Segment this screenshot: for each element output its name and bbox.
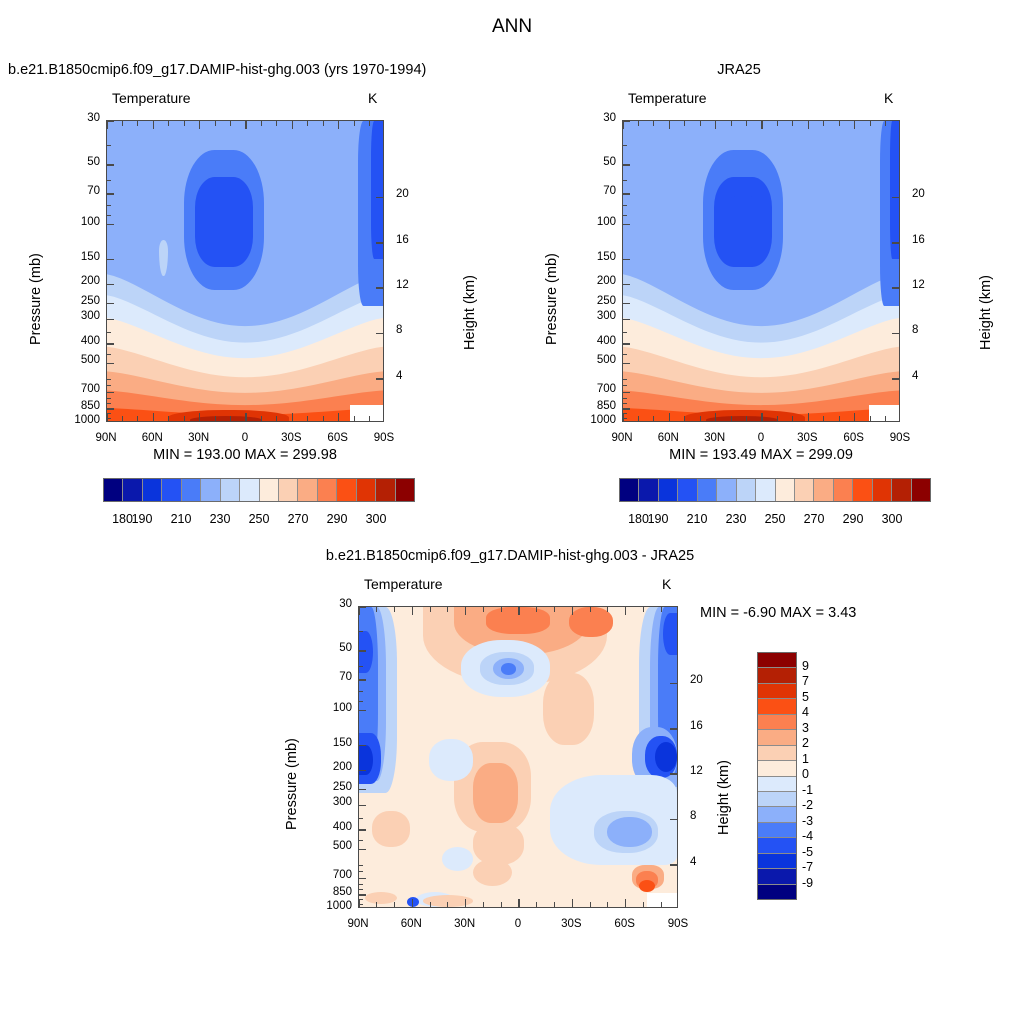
y-tick-mark xyxy=(107,224,114,226)
colorbar-cell xyxy=(873,479,892,501)
y-tick-label: 200 xyxy=(318,761,352,773)
y-tick-mark xyxy=(107,193,114,195)
x-tick-label: 30N xyxy=(177,432,221,444)
y-tick-mark xyxy=(359,770,366,772)
y-minor-tick xyxy=(623,215,627,216)
x-minor-tick-bottom xyxy=(122,416,123,421)
x-minor-tick-top xyxy=(483,607,484,612)
y-tick-mark xyxy=(107,284,114,286)
y-tick-mark xyxy=(107,120,114,122)
contour-polar-cold xyxy=(371,121,383,259)
y-minor-tick xyxy=(623,354,627,355)
x-minor-tick-bottom xyxy=(276,416,277,421)
x-minor-tick-bottom xyxy=(483,902,484,907)
colorbar-cell xyxy=(758,715,796,730)
colorbar-difference xyxy=(757,652,797,900)
variable-label-top-left: Temperature xyxy=(112,90,191,106)
y-tick-mark xyxy=(623,392,630,394)
y2-tick-label: 20 xyxy=(912,188,925,200)
x-minor-tick-bottom xyxy=(643,902,644,907)
y-minor-tick xyxy=(107,215,111,216)
y-tick-label: 30 xyxy=(582,112,616,124)
y-tick-label: 1000 xyxy=(582,414,616,426)
unit-label-bottom: K xyxy=(662,576,671,592)
colorbar-tick-label: 300 xyxy=(352,512,400,526)
colorbar-tick-label: 7 xyxy=(802,674,809,688)
x-minor-tick-bottom xyxy=(653,416,654,421)
colorbar-cell xyxy=(143,479,162,501)
y-minor-tick xyxy=(623,332,627,333)
x-minor-tick-bottom xyxy=(215,416,216,421)
y2-tick-mark xyxy=(670,864,677,866)
colorbar-cell xyxy=(758,823,796,838)
y-tick-mark xyxy=(623,408,630,410)
y-tick-mark xyxy=(359,894,366,896)
x-minor-tick-top xyxy=(122,121,123,126)
x-minor-tick-top xyxy=(653,121,654,126)
colorbar-cell xyxy=(396,479,414,501)
colorbar-cell xyxy=(814,479,833,501)
y-tick-label: 250 xyxy=(66,295,100,307)
y2-tick-label: 12 xyxy=(690,765,703,777)
y-tick-label: 150 xyxy=(318,737,352,749)
y-tick-label: 70 xyxy=(318,671,352,683)
x-tick-label: 60S xyxy=(832,432,876,444)
y-minor-tick xyxy=(623,403,627,404)
y-minor-tick xyxy=(359,789,363,790)
minmax-top-left: MIN = 193.00 MAX = 299.98 xyxy=(106,447,384,463)
y2-tick-mark xyxy=(670,683,677,685)
colorbar-cell xyxy=(221,479,240,501)
y-tick-label: 250 xyxy=(582,295,616,307)
x-tick-mark-bottom xyxy=(199,413,201,421)
x-tick-label: 0 xyxy=(739,432,783,444)
colorbar-cell xyxy=(678,479,697,501)
y-minor-tick xyxy=(623,205,627,206)
y2-tick-label: 12 xyxy=(396,279,409,291)
y2-axis-label-top-left: Height (km) xyxy=(462,275,478,350)
contour-polar-cold xyxy=(890,121,899,259)
contour-core-cold xyxy=(195,177,253,266)
y-minor-tick xyxy=(359,818,363,819)
x-tick-label: 60S xyxy=(603,918,647,930)
y-tick-mark xyxy=(107,408,114,410)
contour-band xyxy=(607,817,652,847)
y-minor-tick xyxy=(623,145,627,146)
y2-tick-label: 20 xyxy=(396,188,409,200)
y2-tick-label: 8 xyxy=(690,810,696,822)
x-minor-tick-bottom xyxy=(839,416,840,421)
colorbar-tick-label: -3 xyxy=(802,814,813,828)
x-minor-tick-top xyxy=(823,121,824,126)
x-tick-mark-bottom xyxy=(412,899,414,907)
contour-band xyxy=(639,880,655,892)
y2-axis-label-bottom: Height (km) xyxy=(716,760,732,835)
x-minor-tick-bottom xyxy=(638,416,639,421)
x-minor-tick-bottom xyxy=(885,416,886,421)
colorbar-cell xyxy=(834,479,853,501)
colorbar-cell xyxy=(620,479,639,501)
y-tick-mark xyxy=(107,343,114,345)
contour-missing-data xyxy=(647,893,677,907)
y-tick-mark xyxy=(107,319,114,321)
colorbar-temperature-right xyxy=(619,478,931,502)
colorbar-cell xyxy=(279,479,298,501)
colorbar-cell xyxy=(758,838,796,853)
colorbar-cell xyxy=(260,479,279,501)
y-tick-label: 850 xyxy=(582,400,616,412)
y-minor-tick xyxy=(359,840,363,841)
x-minor-tick-top xyxy=(661,607,662,612)
y-axis-label-top-right: Pressure (mb) xyxy=(544,253,560,345)
y-tick-mark xyxy=(359,745,366,747)
y-minor-tick xyxy=(359,631,363,632)
x-minor-tick-top xyxy=(885,121,886,126)
colorbar-tick-label: 5 xyxy=(802,690,809,704)
colorbar-cell xyxy=(758,869,796,884)
y-tick-label: 400 xyxy=(318,821,352,833)
x-minor-tick-top xyxy=(643,607,644,612)
y-tick-label: 850 xyxy=(66,400,100,412)
x-tick-label: 90N xyxy=(600,432,644,444)
y2-tick-label: 20 xyxy=(690,674,703,686)
x-tick-label: 60N xyxy=(646,432,690,444)
colorbar-cell xyxy=(639,479,658,501)
y-tick-label: 50 xyxy=(66,156,100,168)
x-minor-tick-top xyxy=(354,121,355,126)
x-minor-tick-top xyxy=(839,121,840,126)
x-tick-mark-bottom xyxy=(153,413,155,421)
x-tick-mark-bottom xyxy=(465,899,467,907)
y2-axis-label-top-right: Height (km) xyxy=(978,275,994,350)
variable-label-top-right: Temperature xyxy=(628,90,707,106)
y-tick-mark xyxy=(359,679,366,681)
x-minor-tick-top xyxy=(501,607,502,612)
y-tick-label: 30 xyxy=(318,598,352,610)
x-tick-mark-bottom xyxy=(808,413,810,421)
x-tick-mark-top xyxy=(669,121,671,129)
colorbar-cell xyxy=(758,761,796,776)
y-tick-mark xyxy=(623,164,630,166)
x-minor-tick-bottom xyxy=(554,902,555,907)
y-minor-tick xyxy=(107,145,111,146)
colorbar-tick-label: -2 xyxy=(802,798,813,812)
figure-suptitle: ANN xyxy=(0,16,1024,38)
y-tick-label: 200 xyxy=(582,275,616,287)
y-minor-tick xyxy=(107,398,111,399)
x-tick-mark-top xyxy=(518,607,520,615)
contour-field xyxy=(623,121,899,421)
y-tick-label: 700 xyxy=(318,869,352,881)
colorbar-tick-label: 9 xyxy=(802,659,809,673)
y-tick-mark xyxy=(623,193,630,195)
y-minor-tick xyxy=(359,701,363,702)
x-tick-mark-bottom xyxy=(106,413,108,421)
y-minor-tick xyxy=(107,332,111,333)
colorbar-cell xyxy=(758,854,796,869)
y-tick-label: 400 xyxy=(582,335,616,347)
contour-band xyxy=(706,416,778,421)
colorbar-cell xyxy=(357,479,376,501)
x-tick-label: 90N xyxy=(84,432,128,444)
y-tick-label: 200 xyxy=(66,275,100,287)
colorbar-cell xyxy=(123,479,142,501)
colorbar-cell xyxy=(240,479,259,501)
y-tick-mark xyxy=(107,363,114,365)
x-minor-tick-bottom xyxy=(394,902,395,907)
variable-label-bottom: Temperature xyxy=(364,576,443,592)
colorbar-tick-label: 0 xyxy=(802,767,809,781)
y2-tick-mark xyxy=(892,333,899,335)
x-tick-mark-bottom xyxy=(292,413,294,421)
y-tick-mark xyxy=(623,363,630,365)
x-minor-tick-top xyxy=(376,607,377,612)
y-tick-label: 500 xyxy=(318,840,352,852)
colorbar-tick-label: -9 xyxy=(802,876,813,890)
x-tick-label: 90S xyxy=(878,432,922,444)
colorbar-cell xyxy=(698,479,717,501)
x-tick-mark-bottom xyxy=(245,413,247,421)
y-tick-mark xyxy=(359,650,366,652)
x-tick-mark-top xyxy=(358,607,360,615)
y2-tick-mark xyxy=(376,242,383,244)
contour-band xyxy=(429,739,474,781)
x-tick-mark-bottom xyxy=(669,413,671,421)
y-tick-label: 300 xyxy=(66,310,100,322)
y2-tick-mark xyxy=(376,333,383,335)
colorbar-cell xyxy=(853,479,872,501)
contour-missing-data xyxy=(350,405,383,421)
y-tick-label: 500 xyxy=(66,354,100,366)
colorbar-cell xyxy=(758,699,796,714)
x-minor-tick-bottom xyxy=(323,416,324,421)
x-tick-label: 30S xyxy=(785,432,829,444)
x-minor-tick-bottom xyxy=(661,902,662,907)
y2-tick-label: 8 xyxy=(396,324,402,336)
y-tick-label: 500 xyxy=(582,354,616,366)
x-tick-mark-top xyxy=(715,121,717,129)
y2-tick-label: 4 xyxy=(396,370,402,382)
x-minor-tick-top xyxy=(870,121,871,126)
x-minor-tick-bottom xyxy=(792,416,793,421)
y-minor-tick xyxy=(623,379,627,380)
contour-band xyxy=(473,763,518,823)
colorbar-tick-label: 300 xyxy=(868,512,916,526)
x-minor-tick-bottom xyxy=(870,416,871,421)
colorbar-cell xyxy=(756,479,775,501)
x-tick-label: 0 xyxy=(223,432,267,444)
x-tick-mark-top xyxy=(338,121,340,129)
x-minor-tick-top xyxy=(731,121,732,126)
x-minor-tick-bottom xyxy=(230,416,231,421)
y-minor-tick xyxy=(359,871,363,872)
x-minor-tick-bottom xyxy=(307,416,308,421)
x-minor-tick-top xyxy=(307,121,308,126)
y2-tick-label: 8 xyxy=(912,324,918,336)
contour-field xyxy=(107,121,383,421)
x-tick-label: 60N xyxy=(389,918,433,930)
x-tick-mark-bottom xyxy=(518,899,520,907)
minmax-top-right: MIN = 193.49 MAX = 299.09 xyxy=(622,447,900,463)
y-tick-mark xyxy=(359,829,366,831)
x-tick-mark-top xyxy=(465,607,467,615)
y-tick-label: 300 xyxy=(582,310,616,322)
y2-tick-mark xyxy=(376,378,383,380)
colorbar-cell xyxy=(776,479,795,501)
x-tick-label: 30S xyxy=(549,918,593,930)
colorbar-cell xyxy=(795,479,814,501)
colorbar-cell xyxy=(182,479,201,501)
x-tick-mark-top xyxy=(245,121,247,129)
y-tick-label: 250 xyxy=(318,781,352,793)
y-minor-tick xyxy=(359,865,363,866)
y-tick-mark xyxy=(107,259,114,261)
y-minor-tick xyxy=(359,666,363,667)
x-minor-tick-top xyxy=(746,121,747,126)
x-tick-mark-top xyxy=(808,121,810,129)
x-minor-tick-bottom xyxy=(447,902,448,907)
colorbar-cell xyxy=(912,479,930,501)
x-minor-tick-top xyxy=(184,121,185,126)
colorbar-tick-label: -4 xyxy=(802,829,813,843)
y-tick-mark xyxy=(359,849,366,851)
colorbar-tick-label: 3 xyxy=(802,721,809,735)
y-tick-mark xyxy=(623,259,630,261)
y2-tick-mark xyxy=(376,197,383,199)
x-minor-tick-bottom xyxy=(168,416,169,421)
x-minor-tick-top xyxy=(276,121,277,126)
x-tick-mark-top xyxy=(292,121,294,129)
x-minor-tick-top xyxy=(394,607,395,612)
y-tick-mark xyxy=(107,392,114,394)
x-minor-tick-bottom xyxy=(376,902,377,907)
x-tick-mark-bottom xyxy=(358,899,360,907)
colorbar-cell xyxy=(892,479,911,501)
x-tick-label: 30N xyxy=(443,918,487,930)
x-tick-mark-bottom xyxy=(622,413,624,421)
x-minor-tick-top xyxy=(536,607,537,612)
x-minor-tick-top xyxy=(323,121,324,126)
x-minor-tick-top xyxy=(137,121,138,126)
colorbar-cell xyxy=(737,479,756,501)
y-minor-tick xyxy=(107,354,111,355)
contour-core-cold xyxy=(723,196,763,248)
x-minor-tick-top xyxy=(792,121,793,126)
y-minor-tick xyxy=(107,180,111,181)
y2-tick-mark xyxy=(670,773,677,775)
y2-tick-label: 12 xyxy=(912,279,925,291)
colorbar-cell xyxy=(758,746,796,761)
x-tick-label: 60N xyxy=(130,432,174,444)
colorbar-cell xyxy=(717,479,736,501)
x-minor-tick-top xyxy=(700,121,701,126)
x-tick-mark-top xyxy=(199,121,201,129)
x-minor-tick-top xyxy=(777,121,778,126)
x-tick-label: 90S xyxy=(656,918,700,930)
contour-missing-data xyxy=(869,405,899,421)
colorbar-cell xyxy=(758,730,796,745)
colorbar-cell xyxy=(162,479,181,501)
x-tick-mark-top xyxy=(572,607,574,615)
y-tick-mark xyxy=(359,710,366,712)
y-tick-label: 400 xyxy=(66,335,100,347)
y2-tick-label: 16 xyxy=(912,234,925,246)
y-tick-mark xyxy=(107,164,114,166)
y2-tick-label: 16 xyxy=(396,234,409,246)
x-minor-tick-top xyxy=(447,607,448,612)
colorbar-cell xyxy=(318,479,337,501)
x-minor-tick-top xyxy=(684,121,685,126)
x-minor-tick-top xyxy=(168,121,169,126)
x-tick-mark-top xyxy=(153,121,155,129)
y2-tick-label: 4 xyxy=(690,856,696,868)
y-tick-mark xyxy=(623,284,630,286)
y-tick-label: 1000 xyxy=(318,900,352,912)
y-tick-label: 50 xyxy=(582,156,616,168)
x-minor-tick-bottom xyxy=(430,902,431,907)
colorbar-cell xyxy=(659,479,678,501)
x-minor-tick-bottom xyxy=(369,416,370,421)
y-minor-tick xyxy=(107,205,111,206)
y2-tick-mark xyxy=(892,378,899,380)
y-tick-mark xyxy=(623,319,630,321)
y-tick-label: 100 xyxy=(66,216,100,228)
y-tick-mark xyxy=(623,120,630,122)
x-minor-tick-bottom xyxy=(607,902,608,907)
x-minor-tick-bottom xyxy=(184,416,185,421)
y-minor-tick xyxy=(623,303,627,304)
x-tick-mark-top xyxy=(854,121,856,129)
y-axis-label-bottom: Pressure (mb) xyxy=(284,738,300,830)
contour-band xyxy=(655,742,677,772)
x-tick-label: 60S xyxy=(316,432,360,444)
colorbar-cell xyxy=(758,777,796,792)
colorbar-tick-label: -7 xyxy=(802,860,813,874)
y2-tick-mark xyxy=(376,287,383,289)
x-minor-tick-top xyxy=(261,121,262,126)
colorbar-cell xyxy=(376,479,395,501)
y-tick-label: 150 xyxy=(582,251,616,263)
y-tick-label: 100 xyxy=(582,216,616,228)
colorbar-cell xyxy=(104,479,123,501)
x-tick-mark-bottom xyxy=(338,413,340,421)
y-minor-tick xyxy=(359,691,363,692)
colorbar-cell xyxy=(758,792,796,807)
x-tick-label: 90S xyxy=(362,432,406,444)
x-minor-tick-bottom xyxy=(746,416,747,421)
y-tick-label: 300 xyxy=(318,796,352,808)
x-minor-tick-bottom xyxy=(354,416,355,421)
x-minor-tick-bottom xyxy=(536,902,537,907)
y-minor-tick xyxy=(623,398,627,399)
x-tick-mark-top xyxy=(761,121,763,129)
colorbar-cell xyxy=(337,479,356,501)
x-minor-tick-bottom xyxy=(684,416,685,421)
y-axis-label-top-left: Pressure (mb) xyxy=(28,253,44,345)
x-tick-mark-top xyxy=(106,121,108,129)
x-tick-label: 90N xyxy=(336,918,380,930)
x-tick-mark-top xyxy=(622,121,624,129)
colorbar-cell xyxy=(758,885,796,899)
unit-label-top-right: K xyxy=(884,90,893,106)
x-tick-mark-bottom xyxy=(715,413,717,421)
y2-tick-mark xyxy=(892,287,899,289)
y2-tick-label: 16 xyxy=(690,720,703,732)
colorbar-tick-label: 2 xyxy=(802,736,809,750)
y-tick-label: 850 xyxy=(318,886,352,898)
x-tick-mark-bottom xyxy=(572,899,574,907)
colorbar-cell xyxy=(298,479,317,501)
